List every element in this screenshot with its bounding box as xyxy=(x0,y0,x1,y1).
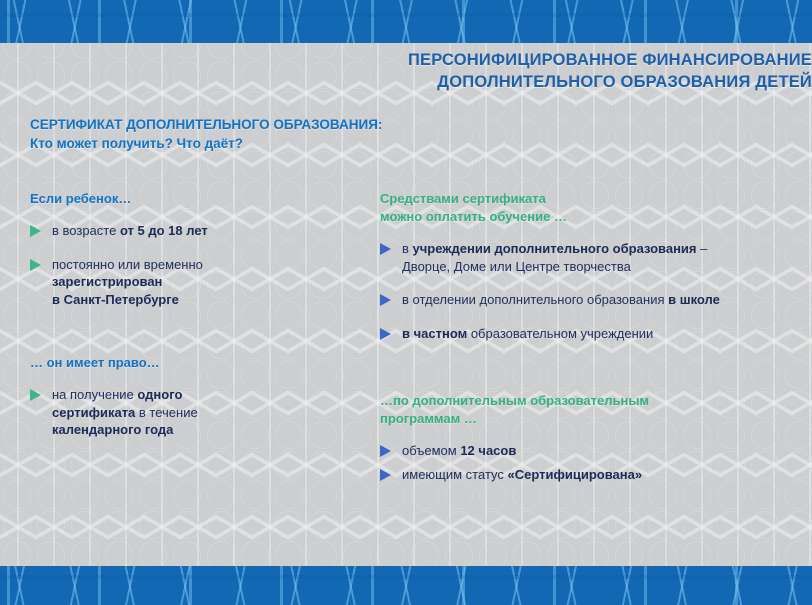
left-block-1-bullet-list: в возрасте от 5 до 18 летпостоянно или в… xyxy=(30,222,360,308)
list-item-line: календарного года xyxy=(52,421,360,439)
page-title-line-2: ДОПОЛНИТЕЛЬНОГО ОБРАЗОВАНИЯ ДЕТЕЙ xyxy=(300,71,812,93)
list-item-line: имеющим статус «Сертифицирована» xyxy=(402,466,800,484)
emphasis-text: от 5 до 18 лет xyxy=(120,223,208,238)
bottom-blue-band xyxy=(0,566,812,605)
list-item: объемом 12 часов xyxy=(380,442,800,460)
plain-text: на получение xyxy=(52,387,137,402)
plain-text: в течение xyxy=(135,405,197,420)
left-block-child-criteria: Если ребенок… в возрасте от 5 до 18 летп… xyxy=(30,190,360,308)
list-item-line: в частном образовательном учреждении xyxy=(402,325,800,343)
list-item: имеющим статус «Сертифицирована» xyxy=(380,466,800,484)
plain-text: имеющим статус xyxy=(402,467,508,482)
plain-text: образовательном учреждении xyxy=(467,326,653,341)
list-item-line: в возрасте от 5 до 18 лет xyxy=(52,222,360,240)
triangle-right-icon xyxy=(380,328,391,340)
list-item-line: в учреждении дополнительного образования… xyxy=(402,240,800,258)
triangle-right-icon xyxy=(30,225,41,237)
subtitle: СЕРТИФИКАТ ДОПОЛНИТЕЛЬНОГО ОБРАЗОВАНИЯ: … xyxy=(30,115,382,153)
right-column: Средствами сертификата можно оплатить об… xyxy=(380,190,800,489)
page-title-line-1: ПЕРСОНИФИЦИРОВАННОЕ ФИНАНСИРОВАНИЕ xyxy=(300,49,812,71)
list-item: на получение одногосертификата в течение… xyxy=(30,386,360,439)
plain-text: в отделении дополнительного образования xyxy=(402,292,668,307)
left-block-2-bullet-list: на получение одногосертификата в течение… xyxy=(30,386,360,439)
plain-text: в xyxy=(402,241,413,256)
list-item-line: постоянно или временно xyxy=(52,256,360,274)
right-block-1-heading-line-2: можно оплатить обучение … xyxy=(380,208,800,226)
left-column: Если ребенок… в возрасте от 5 до 18 летп… xyxy=(30,190,360,439)
emphasis-text: календарного года xyxy=(52,422,173,437)
left-block-2-heading-text: … он имеет право… xyxy=(30,354,360,372)
left-block-1-heading: Если ребенок… xyxy=(30,190,360,208)
emphasis-text: учреждении дополнительного образования xyxy=(413,241,697,256)
triangle-right-icon xyxy=(380,294,391,306)
emphasis-text: 12 часов xyxy=(460,443,516,458)
emphasis-text: зарегистрирован xyxy=(52,274,162,289)
list-item: в отделении дополнительного образования … xyxy=(380,291,800,309)
list-item-line: в Санкт-Петербурге xyxy=(52,291,360,309)
triangle-right-icon xyxy=(380,445,391,457)
list-item: в возрасте от 5 до 18 лет xyxy=(30,222,360,240)
list-item-line: сертификата в течение xyxy=(52,404,360,422)
subtitle-line-1: СЕРТИФИКАТ ДОПОЛНИТЕЛЬНОГО ОБРАЗОВАНИЯ: xyxy=(30,115,382,134)
list-item-line: в отделении дополнительного образования … xyxy=(402,291,800,309)
right-block-1-heading: Средствами сертификата можно оплатить об… xyxy=(380,190,800,226)
right-block-2-heading-line-2: программам … xyxy=(380,410,800,428)
list-item: в частном образовательном учреждении xyxy=(380,325,800,343)
plain-text: объемом xyxy=(402,443,460,458)
right-block-program-requirements: …по дополнительным образовательным прогр… xyxy=(380,392,800,483)
slide-canvas: ПЕРСОНИФИЦИРОВАННОЕ ФИНАНСИРОВАНИЕ ДОПОЛ… xyxy=(0,0,812,605)
emphasis-text: сертификата xyxy=(52,405,135,420)
triangle-right-icon xyxy=(30,389,41,401)
right-block-2-heading: …по дополнительным образовательным прогр… xyxy=(380,392,800,428)
list-item-line: объемом 12 часов xyxy=(402,442,800,460)
list-item-line: зарегистрирован xyxy=(52,273,360,291)
right-block-where-to-spend: Средствами сертификата можно оплатить об… xyxy=(380,190,800,342)
emphasis-text: в частном xyxy=(402,326,467,341)
emphasis-text: в школе xyxy=(668,292,720,307)
right-block-2-bullet-list: объемом 12 часовимеющим статус «Сертифиц… xyxy=(380,442,800,483)
list-item: постоянно или временнозарегистрированв С… xyxy=(30,256,360,309)
plain-text: – xyxy=(697,241,708,256)
emphasis-text: одного xyxy=(137,387,182,402)
subtitle-line-2: Кто может получить? Что даёт? xyxy=(30,134,382,153)
triangle-right-icon xyxy=(30,259,41,271)
right-block-1-heading-line-1: Средствами сертификата xyxy=(380,190,800,208)
triangle-right-icon xyxy=(380,243,391,255)
left-block-2-heading: … он имеет право… xyxy=(30,354,360,372)
left-block-rights: … он имеет право… на получение одногосер… xyxy=(30,354,360,439)
top-blue-band xyxy=(0,0,812,43)
emphasis-text: «Сертифицирована» xyxy=(508,467,643,482)
list-item-line: Дворце, Доме или Центре творчества xyxy=(402,258,800,276)
right-block-2-heading-line-1: …по дополнительным образовательным xyxy=(380,392,800,410)
right-block-1-bullet-list: в учреждении дополнительного образования… xyxy=(380,240,800,342)
plain-text: в возрасте xyxy=(52,223,120,238)
plain-text: постоянно или временно xyxy=(52,257,203,272)
page-title: ПЕРСОНИФИЦИРОВАННОЕ ФИНАНСИРОВАНИЕ ДОПОЛ… xyxy=(300,49,812,93)
left-block-1-heading-text: Если ребенок… xyxy=(30,190,360,208)
triangle-right-icon xyxy=(380,469,391,481)
list-item: в учреждении дополнительного образования… xyxy=(380,240,800,275)
emphasis-text: в Санкт-Петербурге xyxy=(52,292,179,307)
list-item-line: на получение одного xyxy=(52,386,360,404)
plain-text: Дворце, Доме или Центре творчества xyxy=(402,259,631,274)
